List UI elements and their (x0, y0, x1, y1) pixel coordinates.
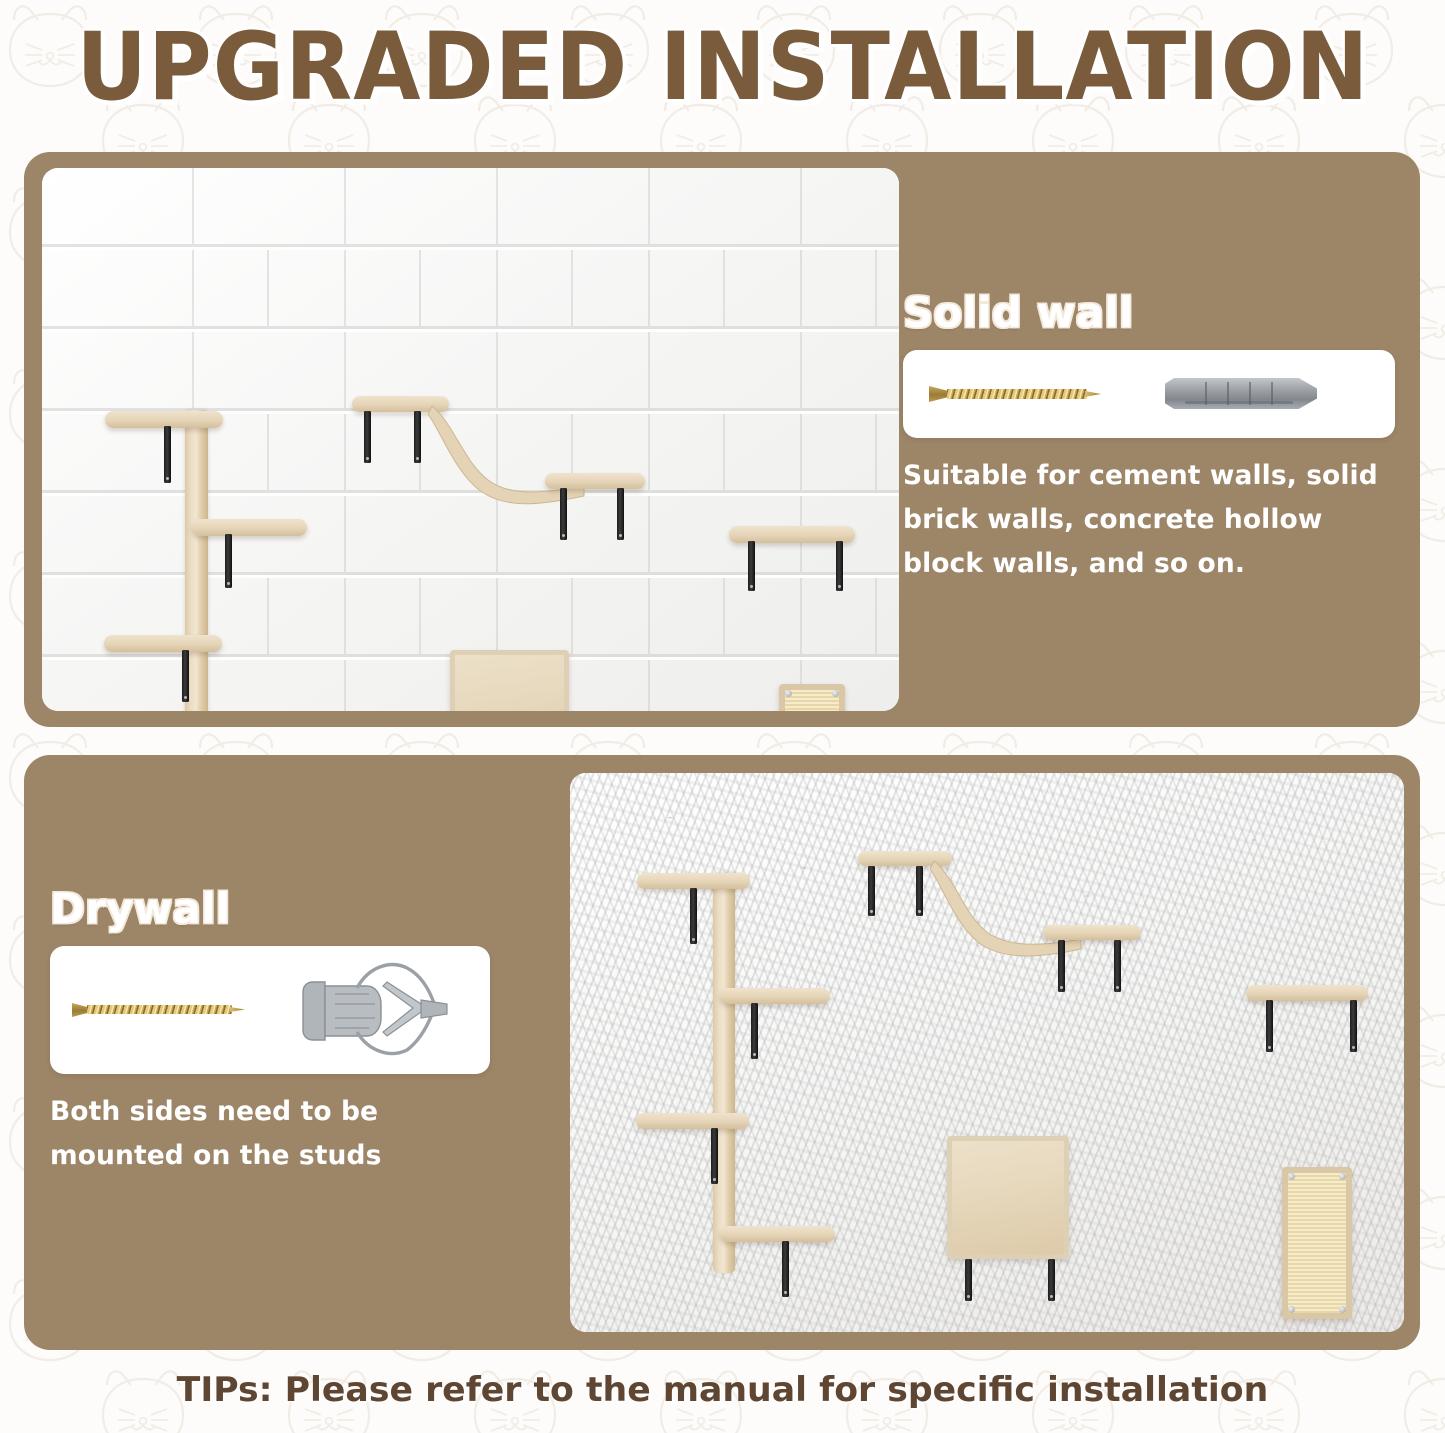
drywall-heading: Drywall (50, 884, 520, 934)
mounting-bracket (1114, 940, 1121, 992)
tips-footer: TIPs: Please refer to the manual for spe… (0, 1368, 1445, 1412)
drywall-photo (570, 773, 1404, 1332)
mounting-bracket (225, 534, 232, 588)
page-title-text: UPGRADED INSTALLATION (76, 19, 1369, 117)
mounting-bracket (868, 866, 875, 916)
plush-shelf-top (637, 873, 750, 889)
mounting-bracket (965, 1259, 972, 1301)
mounting-bracket (414, 411, 421, 463)
mounting-bracket (916, 866, 923, 916)
solid-wall-hardware-card (903, 350, 1395, 438)
solid-wall-photo (42, 168, 899, 711)
wood-screw-icon (929, 382, 1109, 406)
square-plush-perch (947, 1136, 1069, 1259)
sisal-scratching-board (779, 684, 845, 711)
mounting-bracket (836, 541, 843, 591)
toggle-anchor-icon (295, 960, 455, 1062)
mounting-bracket (617, 488, 624, 540)
mounting-bracket (1058, 940, 1065, 992)
mounting-bracket (748, 541, 755, 591)
solid-wall-description: Suitable for cement walls, solid brick w… (903, 454, 1403, 586)
mounting-bracket (690, 888, 697, 944)
solid-wall-heading: Solid wall (903, 288, 1403, 338)
drywall-description: Both sides need to be mounted on the stu… (50, 1090, 520, 1178)
plush-shelf-third (104, 635, 222, 652)
mounting-bracket (182, 650, 189, 702)
plush-shelf-bottom (720, 1226, 835, 1242)
drywall-info: Drywall Both sides need to be mounted on… (50, 884, 520, 1178)
drywall-panel: Drywall Both sides need to be mounted on… (24, 755, 1420, 1350)
square-plush-perch (450, 650, 569, 711)
mounting-bracket (711, 1128, 718, 1184)
plush-shelf-single (1246, 985, 1368, 1001)
mounting-bracket (364, 411, 371, 463)
page-title: UPGRADED INSTALLATION (0, 16, 1445, 120)
sisal-scratching-board (1282, 1167, 1352, 1319)
solid-wall-panel: Solid wall Suitable for cement walls, so… (24, 152, 1420, 727)
plush-shelf-third (636, 1113, 749, 1129)
plush-shelf-second (192, 519, 307, 536)
mounting-bracket (782, 1241, 789, 1297)
drywall-hardware-card (50, 946, 490, 1074)
expansion-plug-icon (1165, 378, 1317, 409)
mounting-bracket (1266, 1000, 1273, 1052)
solid-wall-info: Solid wall Suitable for cement walls, so… (903, 288, 1403, 586)
mounting-bracket (1350, 1000, 1357, 1052)
mounting-bracket (164, 426, 171, 483)
wood-screw-icon (72, 998, 252, 1022)
sisal-surface (785, 690, 839, 711)
mounting-bracket (560, 488, 567, 540)
sisal-post (713, 873, 735, 1273)
mounting-bracket (751, 1003, 758, 1059)
sisal-surface (1288, 1173, 1346, 1313)
plush-shelf-second (720, 988, 830, 1004)
plush-shelf-ramp-lower (545, 473, 645, 489)
plush-shelf-ramp-lower (1043, 925, 1141, 940)
mounting-bracket (1048, 1259, 1055, 1301)
